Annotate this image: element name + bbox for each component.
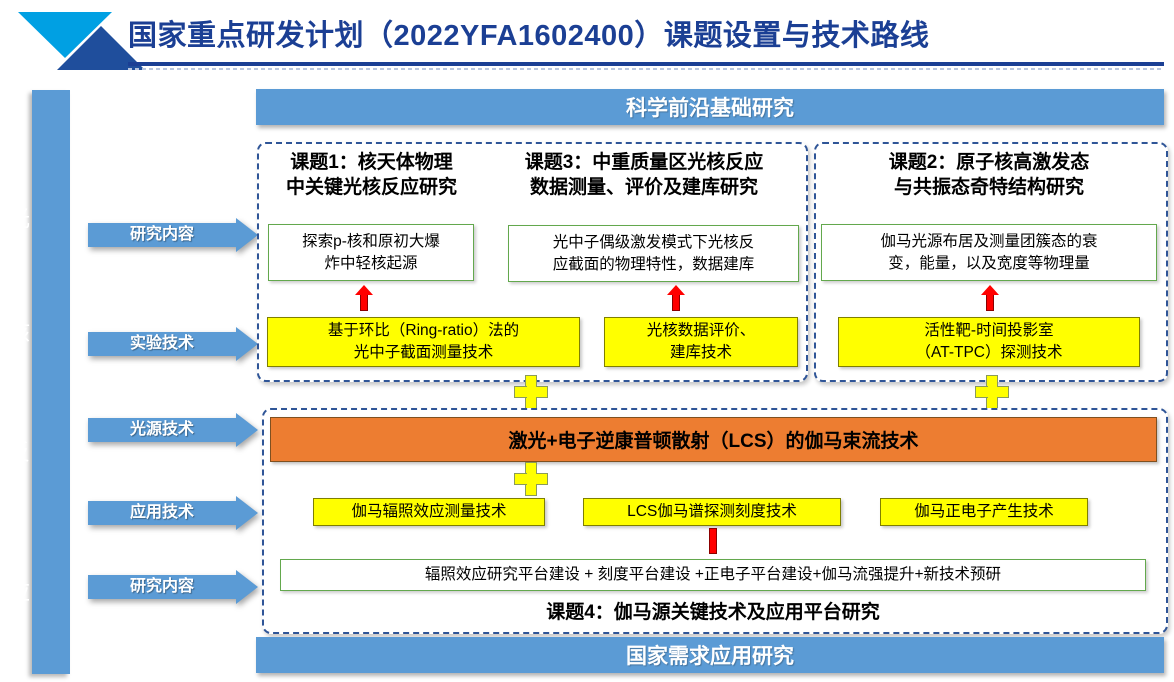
topic-2-title-line1: 课题2：原子核高激发态 xyxy=(820,150,1158,175)
topic-2-content-text: 伽马光源布居及测量团簇态的衰 变，能量，以及宽度等物理量 xyxy=(880,231,1097,275)
arrow-head xyxy=(236,218,258,252)
arrow-experimental-technique[interactable]: 实验技术 xyxy=(88,327,258,361)
title-rule xyxy=(128,62,1164,66)
topic-2-title: 课题2：原子核高激发态 与共振态奇特结构研究 xyxy=(820,150,1158,200)
topic-1-technique-box: 基于环比（Ring-ratio）法的 光中子截面测量技术 xyxy=(267,317,580,367)
arrow-label: 研究内容 xyxy=(88,575,236,599)
light-source-bar: 激光+电子逆康普顿散射（LCS）的伽马束流技术 xyxy=(270,417,1157,462)
topic-2-technique-text: 活性靶-时间投影室 （AT-TPC）探测技术 xyxy=(916,320,1063,364)
banner-top: 科学前沿基础研究 xyxy=(256,89,1164,125)
arrow-shaft xyxy=(672,293,680,311)
arrow-label: 实验技术 xyxy=(88,332,236,356)
plus-icon-lower xyxy=(514,462,548,496)
arrow-research-content-2[interactable]: 研究内容 xyxy=(88,570,258,604)
topic-1-technique-text: 基于环比（Ring-ratio）法的 光中子截面测量技术 xyxy=(328,320,519,364)
topic-1-title: 课题1：核天体物理 中关键光核反应研究 xyxy=(264,150,479,200)
logo xyxy=(10,12,130,70)
plus-icon-left xyxy=(514,375,548,409)
arrow-light-source-technique[interactable]: 光源技术 xyxy=(88,413,258,447)
topic-3-content-text: 光中子偶级激发模式下光核反 应截面的物理特性，数据建库 xyxy=(553,232,755,276)
topic-3-title-line1: 课题3：中重质量区光核反应 xyxy=(489,150,799,175)
arrow-tip xyxy=(355,285,373,295)
topic-3-technique-text: 光核数据评价、 建库技术 xyxy=(647,320,756,364)
arrow-head xyxy=(236,413,258,447)
arrow-label: 光源技术 xyxy=(88,418,236,442)
application-box-3: 伽马正电子产生技术 xyxy=(880,498,1088,526)
topic-2-content-box: 伽马光源布居及测量团簇态的衰 变，能量，以及宽度等物理量 xyxy=(821,224,1157,281)
arrow-head xyxy=(236,496,258,530)
topic-3-content-box: 光中子偶级激发模式下光核反 应截面的物理特性，数据建库 xyxy=(508,225,799,282)
arrow-head xyxy=(236,327,258,361)
topic-3-title-line2: 数据测量、评价及建库研究 xyxy=(489,175,799,200)
arrow-label: 应用技术 xyxy=(88,501,236,525)
plus-fill-h xyxy=(516,388,547,397)
application-box-1: 伽马辐照效应测量技术 xyxy=(313,498,545,526)
slide-header: 国家重点研发计划（2022YFA1602400）课题设置与技术路线 xyxy=(0,0,1174,78)
banner-bottom: 国家需求应用研究 xyxy=(256,637,1164,673)
arrow-shaft xyxy=(709,528,717,554)
arrow-tip xyxy=(667,285,685,295)
application-box-2: LCS伽马谱探测刻度技术 xyxy=(583,498,841,526)
page-title: 国家重点研发计划（2022YFA1602400）课题设置与技术路线 xyxy=(128,14,1158,58)
plus-fill-h xyxy=(977,388,1008,397)
topic-1-title-line1: 课题1：核天体物理 xyxy=(264,150,479,175)
slide-canvas: 国家重点研发计划（2022YFA1602400）课题设置与技术路线 光 核 反 … xyxy=(0,0,1174,682)
platform-box: 辐照效应研究平台建设 + 刻度平台建设 +正电子平台建设+伽马流强提升+新技术预… xyxy=(280,559,1146,591)
topic-3-technique-box: 光核数据评价、 建库技术 xyxy=(604,317,798,367)
arrow-tip xyxy=(981,285,999,295)
red-up-arrow-1 xyxy=(355,285,373,313)
topic-1-content-text: 探索p-核和原初大爆 炸中轻核起源 xyxy=(302,231,440,275)
topic-1-content-box: 探索p-核和原初大爆 炸中轻核起源 xyxy=(268,224,474,281)
red-up-arrow-3 xyxy=(981,285,999,313)
topic-1-title-line2: 中关键光核反应研究 xyxy=(264,175,479,200)
red-up-arrow-2 xyxy=(667,285,685,313)
rail-char-1: 光 xyxy=(0,206,38,232)
arrow-shaft xyxy=(986,293,994,311)
title-rule-dotted xyxy=(128,68,1164,70)
rail-char-4: 应 xyxy=(0,580,38,606)
red-up-arrow-4 xyxy=(704,528,722,556)
rail-char-2: 核 xyxy=(0,320,38,346)
topic-3-title: 课题3：中重质量区光核反应 数据测量、评价及建库研究 xyxy=(489,150,799,200)
topic-2-title-line2: 与共振态奇特结构研究 xyxy=(820,175,1158,200)
plus-icon-right xyxy=(975,375,1009,409)
topic-2-technique-box: 活性靶-时间投影室 （AT-TPC）探测技术 xyxy=(838,317,1140,367)
arrow-head xyxy=(236,570,258,604)
arrow-shaft xyxy=(360,293,368,311)
rail-char-3: 反 xyxy=(0,440,38,466)
arrow-application-technique[interactable]: 应用技术 xyxy=(88,496,258,530)
topic-4-title: 课题4：伽马源关键技术及应用平台研究 xyxy=(280,597,1146,624)
arrow-label: 研究内容 xyxy=(88,223,236,247)
arrow-research-content-1[interactable]: 研究内容 xyxy=(88,218,258,252)
plus-fill-h xyxy=(516,475,547,484)
